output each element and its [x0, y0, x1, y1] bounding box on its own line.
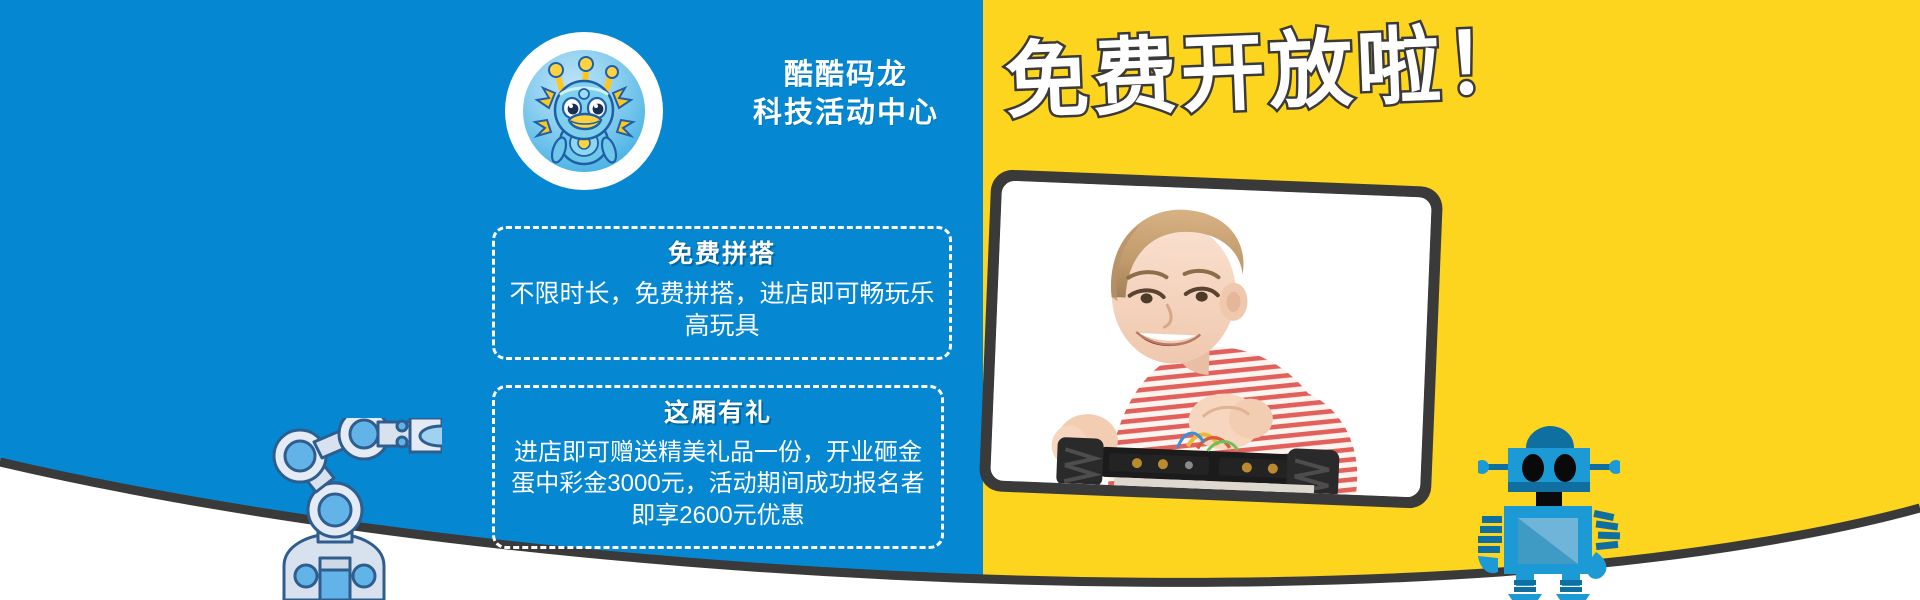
info-card-body: 进店即可赠送精美礼品一份，开业砸金蛋中彩金3000元，活动期间成功报名者即享26… [509, 437, 927, 531]
logo-badge [505, 32, 663, 190]
info-card-body: 不限时长，免费拼搭，进店即可畅玩乐高玩具 [509, 278, 935, 342]
promotional-banner: 酷酷码龙 科技活动中心 免费开放啦！ 免费拼搭 不限时长，免费拼搭，进店即可畅玩… [0, 0, 1920, 600]
photo-inner [990, 180, 1432, 497]
headline-text: 免费开放啦！ [1003, 20, 1534, 124]
brand-line-2: 科技活动中心 [706, 94, 986, 132]
mascot-dragon-icon [523, 50, 645, 172]
retro-robot-icon [1478, 420, 1620, 600]
info-card-title: 这厢有礼 [509, 398, 927, 429]
brand-line-1: 酷酷码龙 [706, 56, 986, 94]
brand-name-block: 酷酷码龙 科技活动中心 [706, 56, 986, 133]
photo-frame [979, 169, 1444, 509]
info-card-free-building: 免费拼搭 不限时长，免费拼搭，进店即可畅玩乐高玩具 [492, 226, 952, 360]
girl-assembling-robot-kit-photo [990, 180, 1432, 497]
info-card-gifts: 这厢有礼 进店即可赠送精美礼品一份，开业砸金蛋中彩金3000元，活动期间成功报名… [492, 385, 944, 549]
info-card-title: 免费拼搭 [509, 239, 935, 270]
logo-badge-inner [523, 50, 645, 172]
robotic-arm-icon [252, 418, 442, 600]
